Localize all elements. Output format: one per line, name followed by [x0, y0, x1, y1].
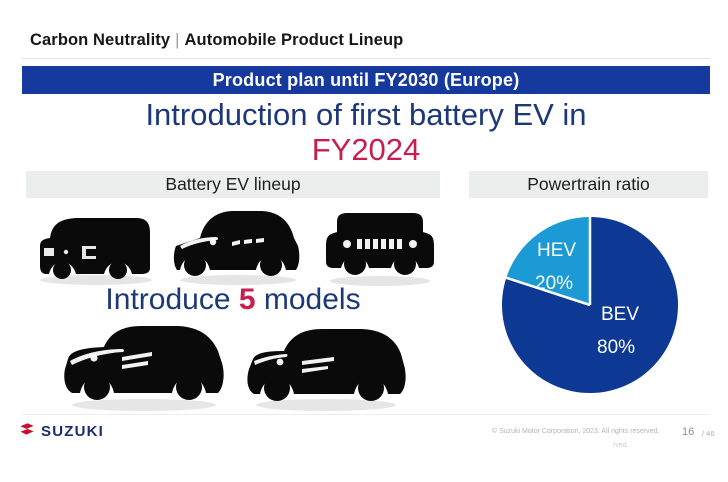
introduce-models-text: Introduce 5 models — [26, 283, 440, 317]
crossover-suv-silhouette — [170, 202, 306, 288]
kei-van-silhouette — [32, 212, 160, 286]
copyright-ghost-text: rved. — [613, 442, 629, 449]
battery-ev-lineup-header: Battery EV lineup — [26, 171, 440, 198]
suzuki-s-emblem-icon — [18, 422, 36, 440]
copyright-notice: © Suzuki Motor Corporation, 2023. All ri… — [492, 428, 659, 435]
large-suv-silhouette — [60, 317, 228, 413]
headline-line-2: FY2024 — [22, 133, 710, 168]
introduce-prefix: Introduce — [105, 283, 238, 316]
title-divider: | — [170, 31, 184, 49]
headline-block: Introduction of first battery EV in FY20… — [22, 98, 710, 167]
product-plan-banner: Product plan until FY2030 (Europe) — [22, 66, 710, 94]
slide-canvas: Carbon Neutrality|Automobile Product Lin… — [0, 0, 728, 482]
powertrain-ratio-header: Powertrain ratio — [469, 171, 708, 198]
pie-svg — [497, 212, 683, 398]
footer-divider-rule — [22, 414, 710, 415]
page-title-category: Carbon Neutrality — [30, 31, 170, 49]
suzuki-logo: SUZUKI — [18, 422, 104, 440]
page-title: Carbon Neutrality|Automobile Product Lin… — [30, 31, 403, 50]
suzuki-logo-text: SUZUKI — [41, 423, 104, 440]
banner-label: Product plan until FY2030 (Europe) — [213, 70, 520, 91]
introduce-suffix: models — [256, 283, 361, 316]
introduce-count: 5 — [239, 283, 256, 316]
battery-ev-lineup-header-label: Battery EV lineup — [165, 174, 300, 195]
powertrain-ratio-header-label: Powertrain ratio — [527, 174, 650, 195]
headline-line-1: Introduction of first battery EV in — [22, 98, 710, 133]
offroad-boxy-silhouette — [321, 204, 439, 288]
page-number-current: 16 — [682, 426, 694, 438]
title-divider-rule — [22, 58, 710, 59]
page-title-main: Automobile Product Lineup — [185, 31, 404, 49]
powertrain-ratio-pie-chart: HEV 20% BEV 80% — [497, 212, 683, 398]
compact-suv-silhouette — [242, 319, 410, 413]
page-number-total: / 46 — [702, 429, 715, 438]
